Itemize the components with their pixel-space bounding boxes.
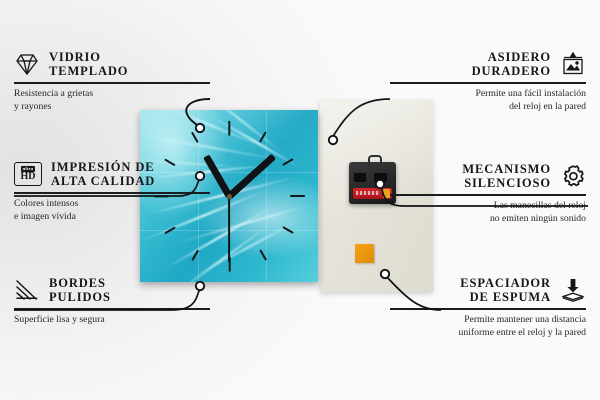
mechanism-shaft <box>368 155 382 166</box>
feature-title: VIDRIO TEMPLADO <box>49 50 128 78</box>
divider <box>390 194 586 196</box>
polished-edges-icon <box>14 277 40 303</box>
feature-title: BORDES PULIDOS <box>49 276 111 304</box>
mechanism-slot-right <box>374 173 387 182</box>
wall-hanger-icon <box>560 51 586 77</box>
second-hand <box>228 196 230 262</box>
feature-description: Superficie lisa y segura <box>14 314 210 327</box>
divider <box>390 82 586 84</box>
feature-description: Permite una fácil instalación del reloj … <box>390 88 586 114</box>
foam-spacer-icon <box>560 277 586 303</box>
feature-espaciador-de-espuma: ESPACIADOR DE ESPUMA Permite mantener un… <box>390 276 586 339</box>
clock-mechanism <box>349 162 396 204</box>
feature-bordes-pulidos: BORDES PULIDOS Superficie lisa y segura <box>14 276 210 327</box>
feature-mecanismo-silencioso: MECANISMO SILENCIOSO Las manecillas del … <box>390 162 586 225</box>
clock-tick <box>228 121 230 136</box>
ultra-hd-icon: ultra HD <box>14 162 42 186</box>
feature-description: Resistencia a grietas y rayones <box>14 88 210 114</box>
infographic-canvas: VIDRIO TEMPLADO Resistencia a grietas y … <box>0 0 600 400</box>
feature-description: Permite mantener una distancia uniforme … <box>390 314 586 340</box>
feature-asidero-duradero: ASIDERO DURADERO Permite una fácil insta… <box>390 50 586 113</box>
feature-vidrio-templado: VIDRIO TEMPLADO Resistencia a grietas y … <box>14 50 210 113</box>
feature-title: MECANISMO SILENCIOSO <box>462 162 551 190</box>
diamond-icon <box>14 51 40 77</box>
gear-icon <box>560 163 586 189</box>
print-seam <box>266 110 267 282</box>
divider <box>14 82 210 84</box>
battery <box>353 188 392 199</box>
divider <box>14 308 210 310</box>
battery-label <box>356 191 380 195</box>
feature-title: ASIDERO DURADERO <box>472 50 551 78</box>
battery-plus-terminal <box>383 189 390 198</box>
feature-title: IMPRESIÓN DE ALTA CALIDAD <box>51 160 155 188</box>
feature-impresion-alta-calidad: ultra HD IMPRESIÓN DE ALTA CALIDAD Color… <box>14 160 210 223</box>
mechanism-slot-left <box>354 173 366 182</box>
clock-center-pin <box>227 194 232 199</box>
divider <box>390 308 586 310</box>
divider <box>14 192 210 194</box>
feature-description: Colores intensos e imagen vívida <box>14 198 210 224</box>
feature-description: Las manecillas del reloj no emiten ningú… <box>390 200 586 226</box>
foam-spacer-sample <box>355 244 374 263</box>
feature-title: ESPACIADOR DE ESPUMA <box>460 276 551 304</box>
